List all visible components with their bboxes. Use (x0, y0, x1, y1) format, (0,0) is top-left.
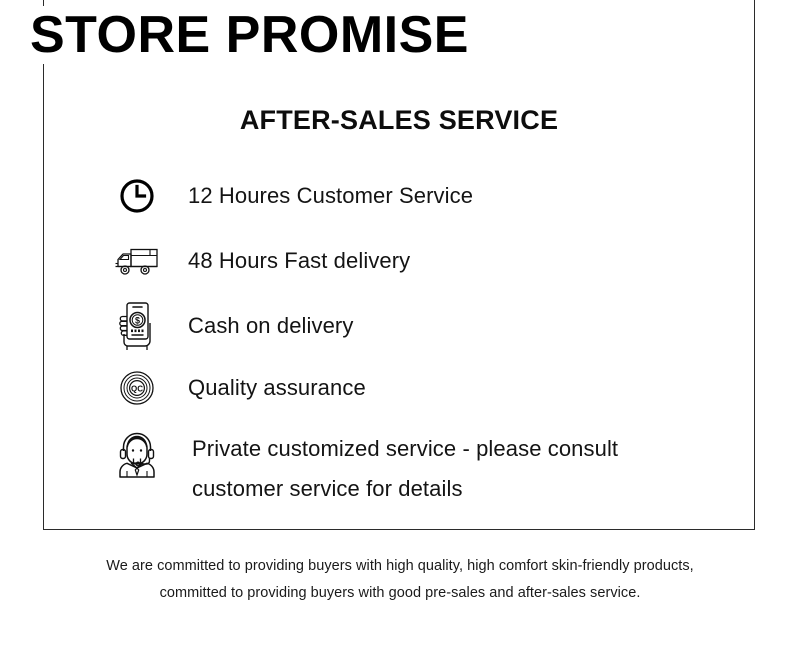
footer-note: We are committed to providing buyers wit… (60, 553, 740, 607)
promise-list: 12 Houres Customer Service (110, 172, 740, 509)
svg-text:$: $ (135, 316, 140, 326)
list-item-fast-delivery: 48 Hours Fast delivery (110, 237, 740, 285)
quality-control-badge-icon: QC (110, 364, 164, 412)
store-promise-banner: STORE PROMISE AFTER-SALES SERVICE 12 Hou… (0, 0, 800, 658)
clock-icon (110, 172, 164, 220)
list-item-label-line1: Private customized service - please cons… (192, 436, 618, 461)
list-item-label: Private customized service - please cons… (192, 429, 618, 509)
footer-note-line1: We are committed to providing buyers wit… (60, 553, 740, 580)
cash-on-delivery-icon: $ (110, 302, 164, 350)
list-item-label-line2: customer service for details (192, 469, 618, 509)
list-item-label: Cash on delivery (188, 306, 353, 346)
list-item-customer-service: 12 Houres Customer Service (110, 172, 740, 220)
list-item-label: 12 Houres Customer Service (188, 176, 473, 216)
customer-support-agent-icon (110, 431, 164, 479)
list-item-label: 48 Hours Fast delivery (188, 241, 410, 281)
section-title-after-sales-service: AFTER-SALES SERVICE (43, 103, 755, 137)
delivery-truck-icon (110, 237, 164, 285)
list-item-quality-assurance: QC Quality assurance (110, 364, 740, 412)
svg-text:QC: QC (131, 384, 143, 393)
page-title: STORE PROMISE (30, 6, 475, 64)
list-item-private-customized-service: Private customized service - please cons… (110, 429, 740, 509)
list-item-cash-on-delivery: $ Cash on delivery (110, 302, 740, 350)
list-item-label: Quality assurance (188, 368, 366, 408)
footer-note-line2: committed to providing buyers with good … (60, 580, 740, 607)
